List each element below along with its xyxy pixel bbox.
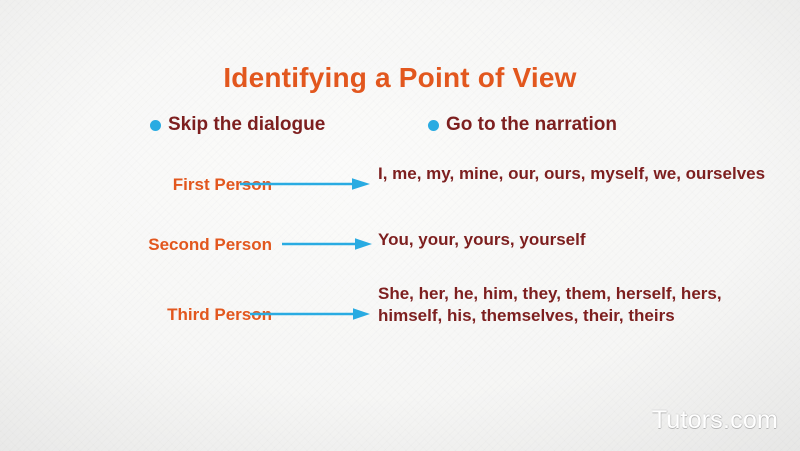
pronoun-list-first: I, me, my, mine, our, ours, myself, we, … — [378, 163, 778, 185]
watermark-logo: Tutors.com — [652, 406, 778, 435]
slide-canvas: Identifying a Point of View Skip the dia… — [0, 0, 800, 451]
person-label-second: Second Person — [2, 235, 272, 255]
bullet-dot-icon — [150, 120, 161, 131]
subhead-label: Go to the narration — [446, 114, 617, 136]
subhead-go-to-narration: Go to the narration — [428, 114, 617, 136]
page-title: Identifying a Point of View — [0, 62, 800, 94]
person-label-first: First Person — [2, 175, 272, 195]
arrow-right-icon — [250, 307, 370, 321]
subhead-label: Skip the dialogue — [168, 114, 325, 136]
arrow-right-icon — [240, 177, 370, 191]
bullet-dot-icon — [428, 120, 439, 131]
subhead-row: Skip the dialogue Go to the narration — [0, 114, 800, 142]
pronoun-list-third: She, her, he, him, they, them, herself, … — [378, 283, 778, 328]
subhead-skip-dialogue: Skip the dialogue — [150, 114, 325, 136]
person-label-third: Third Person — [2, 305, 272, 325]
pronoun-list-second: You, your, yours, yourself — [378, 229, 778, 251]
arrow-right-icon — [282, 237, 372, 251]
